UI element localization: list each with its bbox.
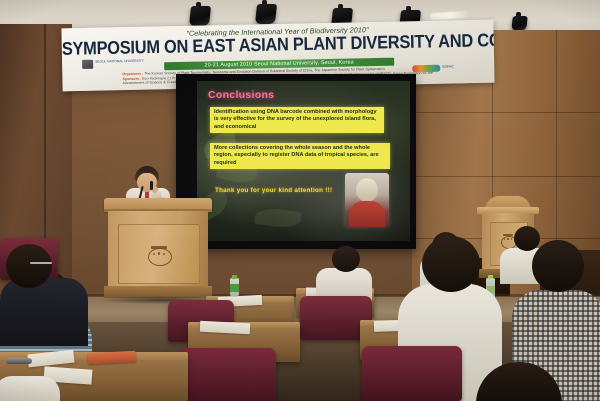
eyeglasses-icon — [6, 358, 32, 364]
bottle-cap — [232, 275, 237, 279]
eyeglasses-icon — [540, 264, 566, 266]
symposium-photo: "Celebrating the International Year of B… — [0, 0, 600, 401]
audience-head — [332, 246, 360, 272]
audience-torso — [0, 376, 60, 401]
auditorium-chair — [180, 348, 276, 401]
ceiling-spotlight-icon — [255, 4, 277, 24]
slide-heading: Conclusions — [208, 89, 274, 101]
university-logo-icon — [82, 60, 93, 69]
bottle-label — [230, 284, 239, 292]
audience-member-front-left-white-shirt — [0, 376, 60, 401]
ceiling-spotlight-icon — [189, 6, 211, 26]
projection-screen: Conclusions Identification using DNA bar… — [197, 81, 410, 241]
audience-head — [422, 236, 480, 292]
audience-head — [532, 240, 584, 292]
slide-bullet-2: More collections covering the whole seas… — [210, 143, 390, 169]
audience-head — [476, 362, 562, 401]
university-emblem-icon — [148, 246, 170, 266]
audience-member-foreground-cropped — [476, 362, 562, 401]
slide-closing-text: Thank you for your kind attention !!! — [215, 187, 332, 194]
water-bottle — [230, 278, 239, 297]
auditorium-chair — [362, 346, 462, 401]
audience-member-mid-back-grey — [316, 246, 372, 300]
microphone-icon — [150, 181, 153, 190]
audience-torso — [0, 278, 88, 346]
wall-seam — [412, 176, 600, 177]
portrait-body — [349, 201, 385, 227]
portrait-head — [356, 178, 378, 202]
slide-bullet-1: Identification using DNA barcode combine… — [210, 107, 384, 133]
eyeglasses-icon — [30, 262, 52, 264]
speaker-podium — [104, 198, 212, 300]
audience-head — [6, 244, 52, 288]
slide-portrait-photo — [345, 173, 389, 227]
wall-seam — [412, 112, 600, 113]
wall-seam — [556, 30, 557, 250]
sponsor-logo-icon — [412, 65, 440, 73]
audience-member-front-left-dark-suit — [0, 244, 88, 344]
